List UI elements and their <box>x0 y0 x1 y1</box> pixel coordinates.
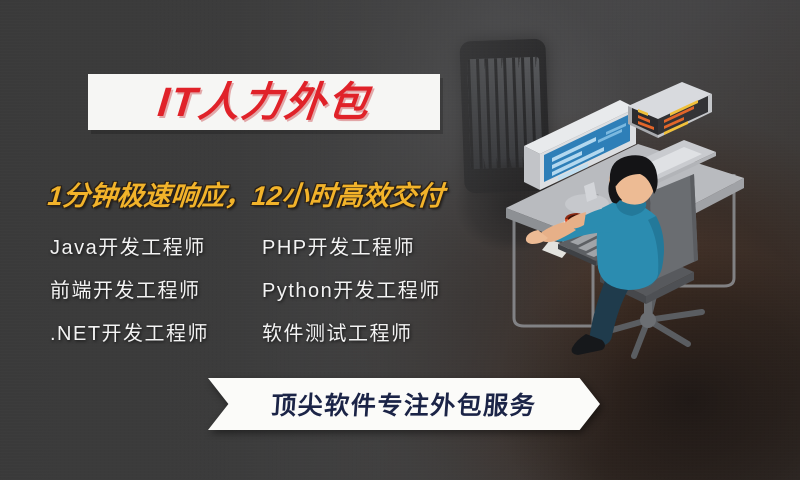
title-plate: IT人力外包 <box>88 74 440 130</box>
job-list: Java开发工程师 PHP开发工程师 前端开发工程师 Python开发工程师 .… <box>50 224 480 353</box>
promo-banner: IT人力外包 1分钟极速响应，12小时高效交付 Java开发工程师 PHP开发工… <box>0 0 800 480</box>
job-item: PHP开发工程师 <box>262 231 480 260</box>
ribbon-banner: 顶尖软件专注外包服务 <box>208 378 600 430</box>
job-item: Java开发工程师 <box>50 231 262 260</box>
page-title: IT人力外包 <box>156 82 373 123</box>
job-item: Python开发工程师 <box>262 274 480 303</box>
job-item: 前端开发工程师 <box>50 274 262 303</box>
job-item: .NET开发工程师 <box>50 317 262 346</box>
developer-illustration <box>498 82 798 368</box>
ribbon-label: 顶尖软件专注外包服务 <box>206 378 602 430</box>
job-item: 软件测试工程师 <box>262 317 480 346</box>
subtitle-text: 1分钟极速响应，12小时高效交付 <box>46 174 445 213</box>
